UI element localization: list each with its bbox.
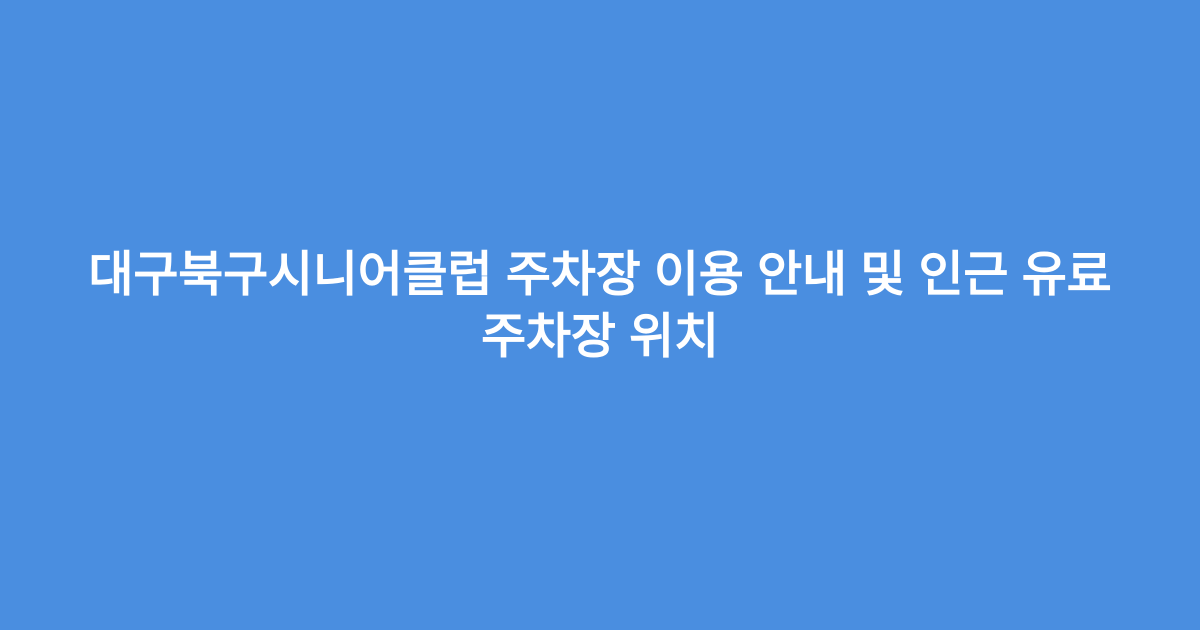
page-title: 대구북구시니어클럽 주차장 이용 안내 및 인근 유료 주차장 위치 <box>70 244 1130 368</box>
social-share-card: 대구북구시니어클럽 주차장 이용 안내 및 인근 유료 주차장 위치 <box>0 0 1200 630</box>
title-block: 대구북구시니어클럽 주차장 이용 안내 및 인근 유료 주차장 위치 <box>70 244 1130 368</box>
